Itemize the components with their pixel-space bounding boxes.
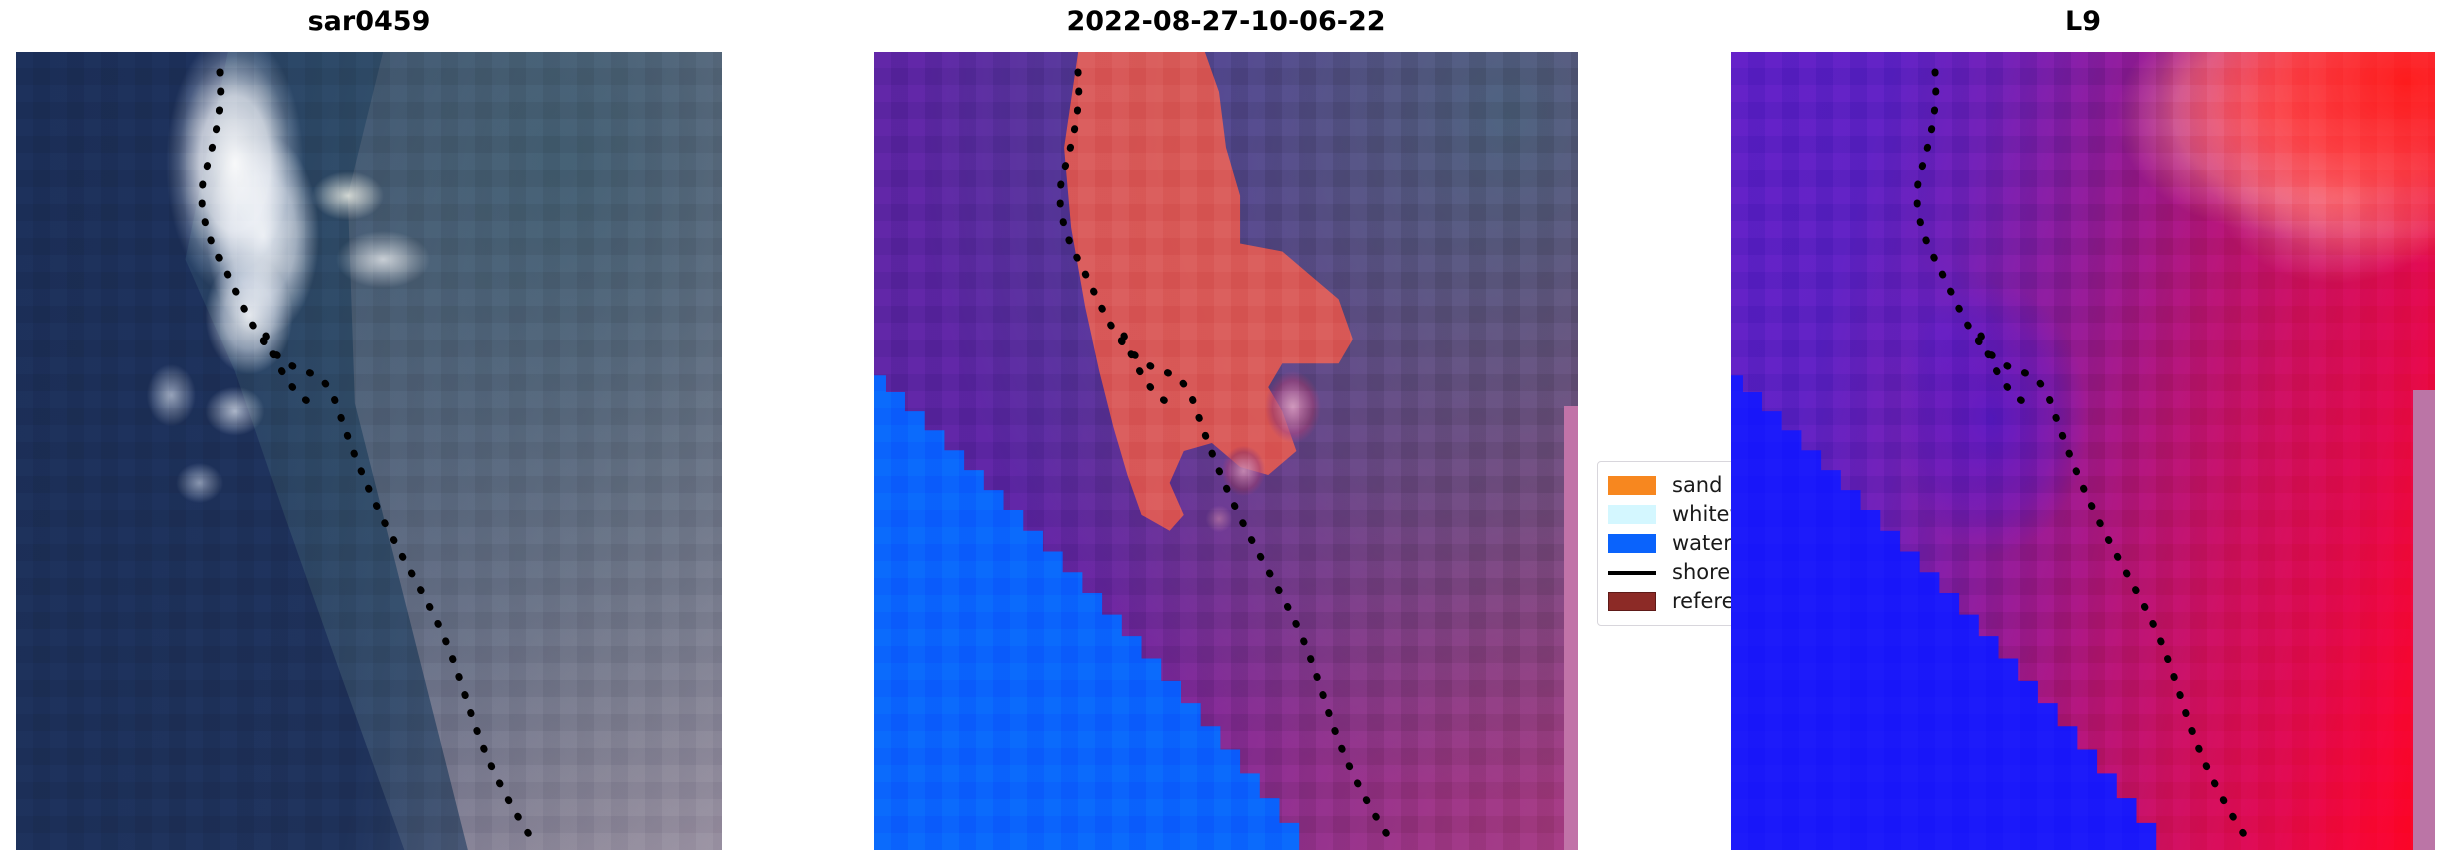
shoreline-line-icon (1608, 571, 1656, 575)
page-title-panel-1: sar0459 (16, 8, 722, 35)
legend-item-label: water (1672, 533, 1732, 554)
reference-shoreline-swatch-icon (1608, 592, 1656, 611)
water-swatch-icon (1608, 534, 1656, 553)
legend-item-label: sand (1672, 475, 1722, 496)
page-title-panel-3: L9 (1731, 8, 2435, 35)
right-edge-mauve-strip (2413, 390, 2435, 850)
image-panel-sar[interactable] (16, 52, 722, 850)
pixel-texture-layer (874, 52, 1578, 850)
page-title-panel-2: 2022-08-27-10-06-22 (874, 8, 1578, 35)
image-panel-l9[interactable] (1731, 52, 2435, 850)
pixel-texture-layer (1731, 52, 2435, 850)
pixel-texture-layer (16, 52, 722, 850)
sand-swatch-icon (1608, 476, 1656, 495)
right-edge-mauve-strip (1564, 406, 1578, 850)
whitewater-swatch-icon (1608, 505, 1656, 524)
figure-canvas: sar0459 2022-08-27-10-06-22 L9 sand (0, 0, 2460, 864)
image-panel-classified[interactable] (874, 52, 1578, 850)
